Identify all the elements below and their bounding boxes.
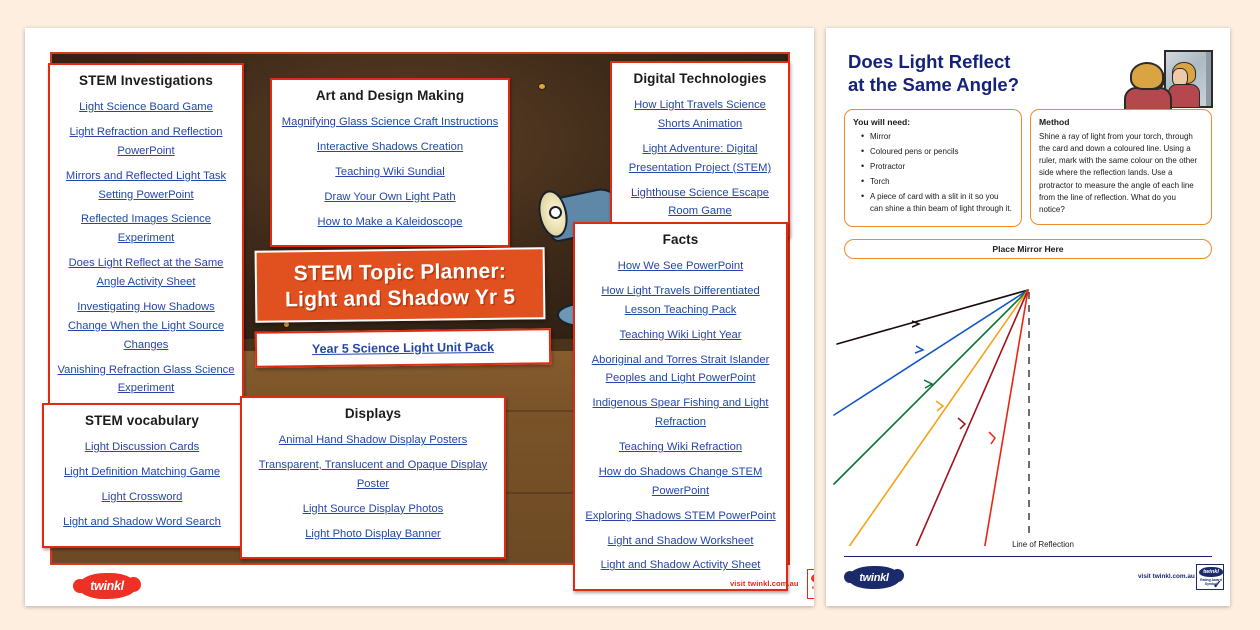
card-digital-technologies: Digital Technologies How Light Travels S… <box>610 61 790 237</box>
list-item: Teaching Wiki Light Year <box>582 325 779 344</box>
list-item: A piece of card with a slit in it so you… <box>861 191 1013 215</box>
list-item: Light Discussion Cards <box>51 437 233 456</box>
resource-link[interactable]: Interactive Shadows Creation <box>317 141 463 153</box>
list-item: Teaching Wiki Refraction <box>582 437 779 456</box>
resource-link[interactable]: Light Crossword <box>102 491 183 503</box>
resource-link[interactable]: Mirrors and Reflected Light Task Setting… <box>66 170 226 201</box>
resource-link[interactable]: Transparent, Translucent and Opaque Disp… <box>259 459 487 490</box>
check-icon: ✓ <box>1213 578 1222 591</box>
list-item: Exploring Shadows STEM PowerPoint <box>582 506 779 525</box>
list-item: How to Make a Kaleidoscope <box>279 212 501 231</box>
list-item: Torch <box>861 176 1013 188</box>
unit-pack-link[interactable]: Year 5 Science Light Unit Pack <box>312 340 494 356</box>
visit-url-text: visit twinkl.com.au <box>1138 573 1195 580</box>
badge-logo-text: twinkl <box>1199 567 1223 577</box>
resource-link[interactable]: Light Refraction and Reflection PowerPoi… <box>70 126 223 157</box>
list-item: Light Refraction and Reflection PowerPoi… <box>57 122 235 160</box>
banner-line-1: STEM Topic Planner: <box>267 258 533 287</box>
list-item: Mirrors and Reflected Light Task Setting… <box>57 166 235 204</box>
link-list: How Light Travels Science Shorts Animati… <box>619 95 781 220</box>
resource-link[interactable]: Does Light Reflect at the Same Angle Act… <box>69 257 224 288</box>
ray-arrow-red <box>989 432 995 444</box>
banner-line-2: Light and Shadow Yr 5 <box>267 284 533 313</box>
card-art-and-design-making: Art and Design Making Magnifying Glass S… <box>270 78 510 247</box>
mirror-frame <box>1206 50 1213 108</box>
method-text: Shine a ray of light from your torch, th… <box>1039 131 1203 216</box>
resource-link[interactable]: How do Shadows Change STEM PowerPoint <box>599 466 763 497</box>
screenshot-stage: STEM Investigations Light Science Board … <box>0 0 1260 630</box>
list-item: Light Crossword <box>51 487 233 506</box>
twinkl-logo-text: twinkl <box>78 573 136 599</box>
card-title: Displays <box>249 406 497 421</box>
list-item: How Light Travels Differentiated Lesson … <box>582 281 779 319</box>
ray-line-blue <box>834 290 1028 415</box>
reflection-body <box>1168 84 1200 108</box>
card-facts: Facts How We See PowerPoint How Light Tr… <box>573 222 788 591</box>
card-title: Facts <box>582 232 779 247</box>
visit-url-text: visit twinkl.com.au <box>730 579 799 588</box>
ray-arrow-orange <box>936 401 943 411</box>
list-item: Aboriginal and Torres Strait Islander Pe… <box>582 350 779 388</box>
resource-link[interactable]: How We See PowerPoint <box>618 260 743 272</box>
badge-logo-text: twinkl <box>811 572 814 584</box>
resource-link[interactable]: Light and Shadow Word Search <box>63 516 221 528</box>
resource-link[interactable]: Light Photo Display Banner <box>305 528 441 540</box>
crumb-decor <box>284 322 289 327</box>
resource-link[interactable]: Teaching Wiki Sundial <box>335 166 444 178</box>
list-item: Lighthouse Science Escape Room Game <box>619 183 781 221</box>
line-of-reflection-label: Line of Reflection <box>963 540 1123 549</box>
card-title: STEM vocabulary <box>51 413 233 428</box>
twinkl-logo[interactable]: twinkl <box>848 566 900 594</box>
crumb-decor <box>539 84 545 89</box>
twinkl-award-badge: twinkl Rating Award Symbol ✓ <box>1196 564 1224 590</box>
resource-link[interactable]: Indigenous Spear Fishing and Light Refra… <box>592 397 768 428</box>
resource-link[interactable]: Investigating How Shadows Change When th… <box>68 301 224 351</box>
right-page-activity-sheet: Does Light Reflect at the Same Angle? Yo… <box>826 28 1230 606</box>
twinkl-logo-text: twinkl <box>848 566 900 589</box>
card-title: Art and Design Making <box>279 88 501 103</box>
planner-title-banner: STEM Topic Planner: Light and Shadow Yr … <box>255 247 546 323</box>
method-box: Method Shine a ray of light from your to… <box>1030 109 1212 225</box>
resource-link[interactable]: Light and Shadow Worksheet <box>608 535 754 547</box>
resource-link[interactable]: Reflected Images Science Experiment <box>81 213 211 244</box>
materials-list: Mirror Coloured pens or pencils Protract… <box>861 131 1013 215</box>
boy-hair <box>1130 62 1164 90</box>
badge-caption: Rating Award Symbol <box>810 585 814 595</box>
resource-link[interactable]: Teaching Wiki Light Year <box>620 329 742 341</box>
resource-link[interactable]: Magnifying Glass Science Craft Instructi… <box>282 116 498 128</box>
list-item: Mirror <box>861 131 1013 143</box>
list-item: Light Source Display Photos <box>249 499 497 518</box>
planner-subtitle-card: Year 5 Science Light Unit Pack <box>255 328 551 368</box>
footer-divider <box>844 556 1212 557</box>
list-item: Transparent, Translucent and Opaque Disp… <box>249 455 497 493</box>
card-stem-vocabulary: STEM vocabulary Light Discussion Cards L… <box>42 403 242 548</box>
list-item: Light and Shadow Activity Sheet <box>582 555 779 574</box>
list-item: Coloured pens or pencils <box>861 146 1013 158</box>
card-title: STEM Investigations <box>57 73 235 88</box>
card-title: Digital Technologies <box>619 71 781 86</box>
ray-line-black <box>837 290 1028 344</box>
page-title: Does Light Reflect at the Same Angle? <box>848 50 1118 96</box>
resource-link[interactable]: Teaching Wiki Refraction <box>619 441 742 453</box>
list-item: Teaching Wiki Sundial <box>279 162 501 181</box>
method-heading: Method <box>1039 117 1203 127</box>
ray-arrow-blue <box>915 346 923 353</box>
link-list: How We See PowerPoint How Light Travels … <box>582 256 779 574</box>
list-item: How do Shadows Change STEM PowerPoint <box>582 462 779 500</box>
link-list: Animal Hand Shadow Display Posters Trans… <box>249 430 497 542</box>
list-item: Light Adventure: Digital Presentation Pr… <box>619 139 781 177</box>
list-item: Investigating How Shadows Change When th… <box>57 297 235 354</box>
resource-link[interactable]: Light Adventure: Digital Presentation Pr… <box>629 143 771 174</box>
resource-link[interactable]: Draw Your Own Light Path <box>324 191 455 203</box>
list-item: Animal Hand Shadow Display Posters <box>249 430 497 449</box>
list-item: Indigenous Spear Fishing and Light Refra… <box>582 393 779 431</box>
left-page-planner: STEM Investigations Light Science Board … <box>25 28 814 606</box>
resource-link[interactable]: Light Definition Matching Game <box>64 466 220 478</box>
list-item: Does Light Reflect at the Same Angle Act… <box>57 253 235 291</box>
twinkl-award-badge: twinkl Rating Award Symbol ✓ <box>807 569 814 599</box>
resource-link[interactable]: How to Make a Kaleidoscope <box>318 216 463 228</box>
resource-link[interactable]: Light Source Display Photos <box>303 503 444 515</box>
reflection-ray-diagram <box>826 256 1230 546</box>
boy-looking-in-mirror-illustration <box>1120 40 1224 114</box>
resource-link[interactable]: Vanishing Refraction Glass Science Exper… <box>57 364 234 395</box>
ray-arrow-darkred <box>958 418 965 429</box>
card-displays: Displays Animal Hand Shadow Display Post… <box>240 396 506 559</box>
page-title-line-2: at the Same Angle? <box>848 73 1118 96</box>
resource-link[interactable]: Exploring Shadows STEM PowerPoint <box>585 510 775 522</box>
you-will-need-heading: You will need: <box>853 117 1013 127</box>
twinkl-logo[interactable]: twinkl <box>78 573 136 604</box>
list-item: Light Science Board Game <box>57 97 235 116</box>
resource-link[interactable]: Lighthouse Science Escape Room Game <box>631 187 769 218</box>
list-item: Reflected Images Science Experiment <box>57 209 235 247</box>
ray-line-green <box>834 290 1028 484</box>
resource-link[interactable]: How Light Travels Science Shorts Animati… <box>634 99 766 130</box>
list-item: Light Definition Matching Game <box>51 462 233 481</box>
resource-link[interactable]: Animal Hand Shadow Display Posters <box>279 434 467 446</box>
resource-link[interactable]: Light Science Board Game <box>79 101 213 113</box>
resource-link[interactable]: Aboriginal and Torres Strait Islander Pe… <box>592 354 770 385</box>
list-item: Light and Shadow Word Search <box>51 512 233 531</box>
resource-link[interactable]: Light and Shadow Activity Sheet <box>601 559 761 571</box>
resource-link[interactable]: Light Discussion Cards <box>85 441 199 453</box>
link-list: Magnifying Glass Science Craft Instructi… <box>279 112 501 230</box>
list-item: How We See PowerPoint <box>582 256 779 275</box>
list-item: Protractor <box>861 161 1013 173</box>
list-item: Light and Shadow Worksheet <box>582 531 779 550</box>
resource-link[interactable]: How Light Travels Differentiated Lesson … <box>601 285 759 316</box>
list-item: Draw Your Own Light Path <box>279 187 501 206</box>
page-title-line-1: Does Light Reflect <box>848 50 1118 73</box>
list-item: Light Photo Display Banner <box>249 524 497 543</box>
you-will-need-box: You will need: Mirror Coloured pens or p… <box>844 109 1022 227</box>
link-list: Light Discussion Cards Light Definition … <box>51 437 233 531</box>
list-item: Vanishing Refraction Glass Science Exper… <box>57 360 235 398</box>
place-mirror-here-label: Place Mirror Here <box>992 244 1063 254</box>
list-item: Magnifying Glass Science Craft Instructi… <box>279 112 501 131</box>
list-item: Interactive Shadows Creation <box>279 137 501 156</box>
list-item: How Light Travels Science Shorts Animati… <box>619 95 781 133</box>
